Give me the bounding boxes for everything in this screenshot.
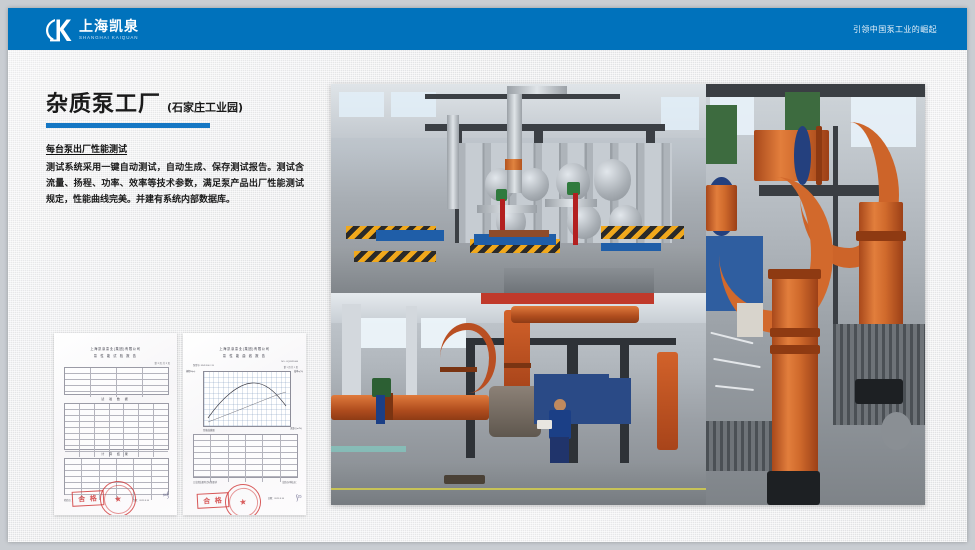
cell [95,440,110,445]
cell [124,410,139,415]
cell [152,471,168,476]
doc1-title-line1: 上海凯泉泵业(集团)有限公司 [54,346,177,351]
pipe-flange [440,367,478,372]
cell [229,453,246,458]
cell [194,471,211,476]
cell [65,465,82,470]
cell [139,422,154,427]
cell [263,477,280,482]
doc2-note: 口试验结果符合标准要求 [193,480,217,484]
cell [139,440,154,445]
cell [263,435,280,440]
floor-grating [833,324,925,425]
concrete-column [406,306,417,408]
stainless-riser-pipe [507,88,522,193]
floor-tool [444,475,485,483]
cell [281,447,297,452]
kaiquan-k-mark-icon [44,17,74,43]
doc2-y-axis-label: 扬程H(m) [186,369,195,373]
pipe-elbow [440,323,496,394]
cell [134,465,151,470]
cell [229,471,246,476]
cell [65,416,80,421]
cell [80,422,95,427]
cell [124,428,139,433]
floor-pit-opening [855,379,903,404]
cell [143,386,168,391]
cell [246,477,263,482]
cell [194,459,211,464]
cell [211,441,228,446]
cell [65,422,80,427]
cell [263,453,280,458]
doc2-parameter-table [193,434,298,478]
slide: 上海凯泉 SHANGHAI KAIQUAN 引领中国泵工业的崛起 杂质泵工厂 (… [8,8,967,542]
floor-grating [706,421,772,472]
cell [110,428,125,433]
transfer-cart-deck [601,243,661,251]
cell [263,441,280,446]
cell [117,471,134,476]
cell [154,428,168,433]
flange-ring [770,328,820,337]
steel-beam [425,124,665,131]
cell [263,471,280,476]
cell [281,471,297,476]
cell [139,416,154,421]
cell [263,447,280,452]
cell [211,435,228,440]
cell [65,477,82,482]
cell [95,428,110,433]
red-stand-pipe [573,193,578,245]
cell [229,435,246,440]
stainless-riser-pipe [447,115,458,209]
upper-orange-pipe [511,306,639,323]
cell [154,416,168,421]
cell [65,368,91,373]
cell [246,453,263,458]
roof-truss [425,94,620,98]
horizontal-orange-pipe [331,395,489,420]
doc2-y2-axis-label: 效率η(%) [294,369,303,373]
cell [80,440,95,445]
blue-flange [794,126,812,185]
cable [715,385,754,391]
cell [95,434,110,439]
worker-head [554,399,566,411]
transfer-cart [601,226,684,239]
cell [246,459,263,464]
cell [117,380,143,385]
stamp-inner-ring [227,486,260,515]
doc2-title-line1: 上海凯泉泵业(集团)有限公司 [183,346,306,351]
cell [143,374,168,379]
cell [91,380,117,385]
cell [82,459,99,464]
cell [80,428,95,433]
cell [65,374,91,379]
cell [95,446,110,451]
cell [110,422,125,427]
cell [154,434,168,439]
cell [110,434,125,439]
cell [80,416,95,421]
cell [110,410,125,415]
cell [143,380,168,385]
cell [246,465,263,470]
foreground-glass-edge [331,446,406,452]
cell [143,368,168,373]
photo-collage [331,84,925,505]
cell [80,434,95,439]
cell [65,440,80,445]
cell [139,434,154,439]
cell [134,459,151,464]
cell [229,441,246,446]
cell [124,446,139,451]
cell [139,404,154,409]
cell [229,447,246,452]
floor-pit-opening [767,471,820,505]
section-body-text: 测试系统采用一键自动测试，自动生成、保存测试报告。测试含流量、扬程、功率、效率等… [46,161,304,208]
cell [211,465,228,470]
steel-platform-beam [466,338,676,345]
cell [117,465,134,470]
cell [194,447,211,452]
cell [246,435,263,440]
cell [134,483,151,488]
cell [65,446,80,451]
cell [82,483,99,488]
company-logo[interactable]: 上海凯泉 SHANGHAI KAIQUAN [44,16,139,44]
doc1-page-meta: 第 1 页 共 1 页 [154,361,170,365]
cell [246,441,263,446]
cell [154,422,168,427]
cell [246,447,263,452]
cell [65,380,91,385]
cell [152,483,168,488]
section-heading: 每台泵出厂性能测试 [46,142,316,155]
cell [281,465,297,470]
doc2-title-line2: 泵 性 能 曲 线 报 告 [183,353,306,358]
orange-coupling [505,159,522,169]
doc2-curve-note: 性能曲线图 [203,428,215,432]
cell [263,459,280,464]
cell [134,489,151,494]
cell [82,477,99,482]
doc1-table2-caption: 计 算 结 果 [54,452,177,456]
cell [91,374,117,379]
cell [117,459,134,464]
cell [100,465,117,470]
flange-ring [770,345,820,354]
cell [110,404,125,409]
cell [281,459,297,464]
doc1-data-table [64,403,169,450]
cell [65,410,80,415]
page-title-main: 杂质泵工厂 [46,86,161,118]
cell [152,465,168,470]
curve-svg [204,372,290,426]
cell [154,404,168,409]
hall-window [361,318,406,348]
cell [91,386,117,391]
green-valve-actuator [706,105,737,164]
flange-ring [816,126,823,185]
cell [65,483,82,488]
cell [194,441,211,446]
cell [139,446,154,451]
cell [95,410,110,415]
floor-marking-line [331,488,706,490]
doc2-date-note: 日期：2021.8.16 [268,496,284,500]
tank-dome [519,168,549,201]
hall-window [339,92,384,117]
cell [100,459,117,464]
cell [65,459,82,464]
cell [117,386,143,391]
cell [211,471,228,476]
cell [65,428,80,433]
cell [281,453,297,458]
control-cabinet [586,378,631,425]
document-curve-report[interactable]: 上海凯泉泵业(集团)有限公司 泵 性 能 曲 线 报 告 泵型号: NSP-30… [183,333,306,515]
cell [95,422,110,427]
document-thumbnails: 上海凯泉泵业(集团)有限公司 泵 性 能 试 验 报 告 第 1 页 共 1 页… [54,333,306,515]
stainless-header-pipe [507,86,567,94]
cell [152,477,168,482]
cell [134,477,151,482]
vertical-pipe-left [772,269,818,488]
left-column: 杂质泵工厂 (石家庄工业园) 每台泵出厂性能测试 测试系统采用一键自动测试，自动… [46,86,316,208]
cell [139,428,154,433]
logo-english-name: SHANGHAI KAIQUAN [79,36,139,41]
cell [91,368,117,373]
cell [124,416,139,421]
cell [194,453,211,458]
cell [82,471,99,476]
hall-window [661,97,699,130]
blue-valve-body [376,395,385,425]
cell [263,465,280,470]
cell [154,446,168,451]
cell [194,435,211,440]
cell [110,416,125,421]
cell [154,410,168,415]
page-title-location: (石家庄工业园) [167,99,243,115]
cell [211,447,228,452]
doc1-title-line2: 泵 性 能 试 验 报 告 [54,353,177,358]
doc2-meta-right-1: NO.: KQ2021066 [281,361,298,363]
overhead-crane-beam [481,293,654,304]
doc2-x-axis-label: 流量Q(m³/h) [290,426,302,430]
floor-box [737,303,763,337]
cell [139,410,154,415]
cell [95,404,110,409]
horizontal-pipe-left [706,185,737,231]
cell [281,441,297,446]
cell [65,386,91,391]
cell [110,446,125,451]
stamp-inner-ring [102,483,135,515]
hall-floor [331,463,706,505]
cell [117,368,143,373]
cell [117,374,143,379]
cell [211,459,228,464]
cell [124,404,139,409]
cell [65,404,80,409]
cell [80,404,95,409]
cell [134,471,151,476]
cell [124,422,139,427]
document-test-report[interactable]: 上海凯泉泵业(集团)有限公司 泵 性 能 试 验 报 告 第 1 页 共 1 页… [54,333,177,515]
stainless-branch-pipe [545,199,598,207]
doc2-meta-left: 泵型号: NSP-300 / 20 [193,363,214,367]
doc1-info-table [64,367,169,395]
cell [152,459,168,464]
doc1-table1-caption: 试 验 数 据 [54,397,177,401]
vertical-orange-pipe [657,352,678,450]
cell [194,465,211,470]
photo-content [331,84,706,293]
title-underline-rule [46,123,210,128]
cell [154,440,168,445]
spare-pipe-spool [881,412,912,450]
photo-content [331,293,706,505]
cell [80,446,95,451]
transfer-cart [354,251,437,261]
cell [124,440,139,445]
cell [65,434,80,439]
cell [65,471,82,476]
cable [713,358,761,368]
cell [80,410,95,415]
header-tagline: 引领中国泵工业的崛起 [853,8,937,50]
foreground-casting [504,268,654,293]
cell [281,435,297,440]
cell [229,477,246,482]
cell [110,440,125,445]
slurry-pump-testbed-photo[interactable] [331,293,706,505]
cell [229,459,246,464]
logo-wordmark: 上海凯泉 SHANGHAI KAIQUAN [79,20,139,41]
cell [229,465,246,470]
photo-content [706,84,925,505]
transfer-cart-deck [376,230,444,240]
logo-chinese-name: 上海凯泉 [79,20,139,34]
flange-ring [768,269,821,279]
cell [100,471,117,476]
pipe-flange [504,363,532,368]
stainless-branch-pipe [477,205,537,212]
cell [124,434,139,439]
cell [82,465,99,470]
doc2-performance-curve-chart [203,371,291,427]
tank-dome [594,159,632,201]
worker-document [537,420,552,428]
doc2-right-note: 试验员/审核员： [282,480,298,484]
cart-load [489,230,549,236]
cell [95,416,110,421]
page-title: 杂质泵工厂 (石家庄工业园) [46,86,316,118]
pump-test-hall-photo[interactable] [331,84,706,293]
cell [211,453,228,458]
flange-ring [856,231,906,241]
cell [246,471,263,476]
page-header: 上海凯泉 SHANGHAI KAIQUAN 引领中国泵工业的崛起 [8,8,967,50]
large-elbow-piping-photo[interactable] [706,84,925,505]
